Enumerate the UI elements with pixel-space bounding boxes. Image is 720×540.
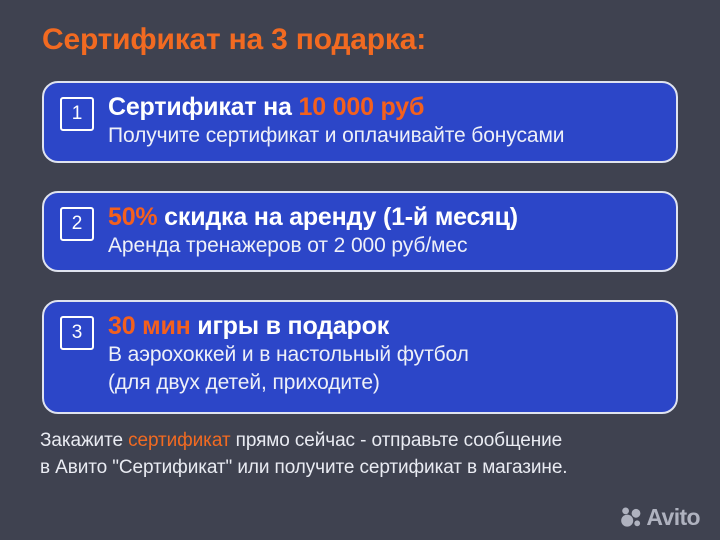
offer-subtitle-1-line-1: Получите сертификат и оплачивайте бонуса…	[108, 123, 660, 149]
footer-note-line-1: Закажите сертификат прямо сейчас - отпра…	[40, 428, 700, 455]
offer-card-list: 1 Сертификат на 10 000 руб Получите серт…	[42, 81, 678, 414]
offer-subtitle-2-line-1: Аренда тренажеров от 2 000 руб/мес	[108, 233, 660, 259]
offer-subtitle-3-line-2: (для двух детей, приходите)	[108, 370, 660, 396]
offer-card-1[interactable]: 1 Сертификат на 10 000 руб Получите серт…	[42, 81, 678, 163]
offer-number-badge-2: 2	[60, 207, 94, 241]
offer-title-2: 50% скидка на аренду (1-й месяц)	[108, 203, 660, 231]
offer-title-1-highlight: 10 000 руб	[299, 93, 425, 121]
offer-title-1: Сертификат на 10 000 руб	[108, 93, 660, 121]
offer-title-3-highlight: 30 мин	[108, 312, 191, 340]
offer-title-2-text-after: скидка на аренду (1-й месяц)	[157, 203, 517, 231]
offer-title-3: 30 мин игры в подарок	[108, 312, 660, 340]
promo-poster: Сертификат на 3 подарка: 1 Сертификат на…	[0, 0, 720, 540]
footer-note-line-1-after: прямо сейчас - отправьте сообщение	[230, 430, 562, 451]
offer-card-body-2: 50% скидка на аренду (1-й месяц) Аренда …	[108, 203, 660, 259]
page-title: Сертификат на 3 подарка:	[42, 23, 426, 57]
offer-title-3-text-after: игры в подарок	[191, 312, 389, 340]
avito-watermark: Avito	[620, 506, 700, 529]
offer-card-body-3: 30 мин игры в подарок В аэрохоккей и в н…	[108, 312, 660, 395]
offer-number-badge-3: 3	[60, 316, 94, 350]
offer-title-1-text-before: Сертификат на	[108, 93, 299, 121]
offer-card-2[interactable]: 2 50% скидка на аренду (1-й месяц) Аренд…	[42, 191, 678, 273]
offer-number-badge-1: 1	[60, 97, 94, 131]
footer-note-line-1-before: Закажите	[40, 430, 128, 451]
offer-card-body-1: Сертификат на 10 000 руб Получите сертиф…	[108, 93, 660, 149]
avito-wordmark: Avito	[646, 506, 700, 529]
footer-note-line-1-highlight: сертификат	[128, 430, 230, 451]
footer-note-line-2: в Авито "Сертификат" или получите сертиф…	[40, 455, 700, 482]
offer-card-3[interactable]: 3 30 мин игры в подарок В аэрохоккей и в…	[42, 300, 678, 414]
offer-subtitle-3-line-1: В аэрохоккей и в настольный футбол	[108, 342, 660, 368]
offer-title-2-highlight: 50%	[108, 203, 157, 231]
footer-note: Закажите сертификат прямо сейчас - отпра…	[40, 428, 700, 482]
avito-dots-icon	[620, 506, 643, 529]
